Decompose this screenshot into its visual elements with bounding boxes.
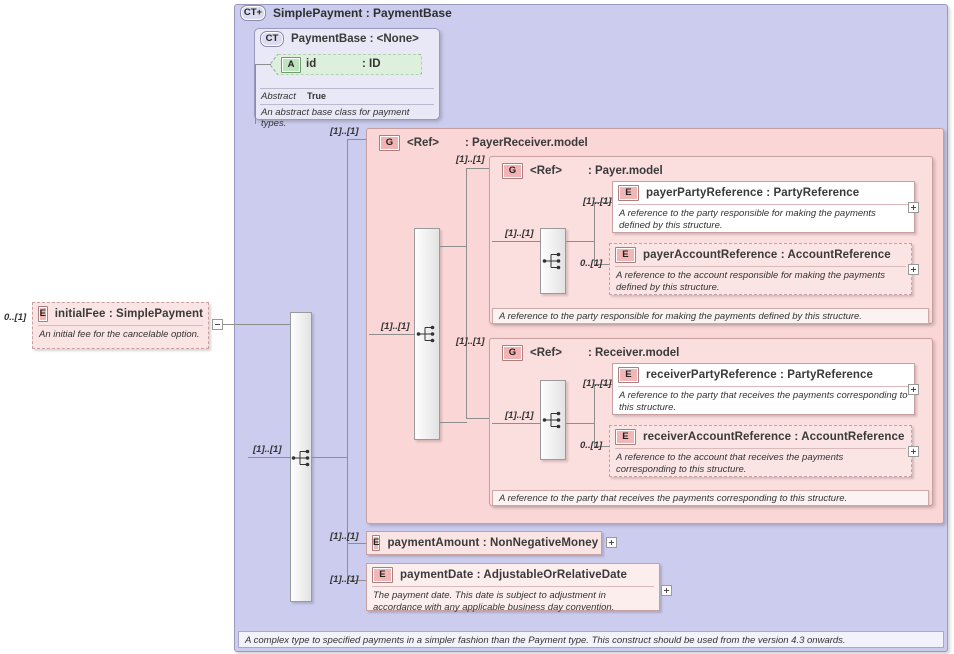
group-badge-icon: G — [502, 345, 523, 361]
payerreceiver-branch-out2 — [440, 422, 467, 423]
initialfee-cardinality: 0..[1] — [4, 312, 26, 323]
payer-ref-label: <Ref> — [530, 165, 562, 177]
payer-sequence-icon — [542, 251, 564, 271]
receiver-name-label: : Receiver.model — [588, 347, 679, 359]
receiveraccountreference-title: E receiverAccountReference : AccountRefe… — [610, 426, 911, 448]
payerpartyreference-cardinality: [1]..[1] — [583, 196, 612, 207]
receiver-group-title: G <Ref> : Receiver.model — [493, 340, 679, 361]
payerreceiver-seq-stub — [369, 334, 415, 335]
payer-children-trunk — [594, 202, 595, 264]
attribute-type: : ID — [362, 58, 381, 70]
element-badge-icon: E — [38, 306, 48, 322]
initialfee-node[interactable]: E initialFee : SimplePayment An initial … — [32, 302, 209, 349]
paymentdate-doc: The payment date. This date is subject t… — [372, 586, 654, 617]
payerreceiver-inner-cardinality: [1]..[1] — [381, 321, 410, 332]
attribute-row-id[interactable]: A id : ID — [270, 54, 422, 75]
root-title-label: SimplePayment : PaymentBase — [273, 6, 452, 20]
payerreceiver-group-title: G <Ref> : PayerReceiver.model — [370, 130, 588, 151]
root-branch-out — [312, 457, 348, 458]
receiverpartyreference-expand-toggle[interactable] — [908, 384, 919, 395]
attr-connector-h — [255, 64, 271, 65]
receiver-ref-label: <Ref> — [530, 347, 562, 359]
payer-group-title: G <Ref> : Payer.model — [493, 158, 663, 179]
ct-plus-icon[interactable]: CT+ — [240, 5, 266, 21]
payerpartyreference-node[interactable]: E payerPartyReference : PartyReference A… — [612, 181, 915, 233]
payer-cardinality: [1]..[1] — [456, 154, 485, 165]
group-badge-icon: G — [502, 163, 523, 179]
receiver-seq-stub — [492, 423, 541, 424]
paymentdate-title: E paymentDate : AdjustableOrRelativeDate — [367, 564, 659, 586]
element-badge-icon: E — [615, 429, 636, 445]
initialfee-doc: An initial fee for the cancelable option… — [38, 325, 203, 344]
payerpartyreference-expand-toggle[interactable] — [908, 202, 919, 213]
root-branch-trunk — [347, 139, 348, 580]
payerreceiver-ref-label: <Ref> — [407, 137, 439, 149]
payerpartyreference-title: E payerPartyReference : PartyReference — [613, 182, 914, 204]
payerreceiver-name-label: : PayerReceiver.model — [465, 137, 588, 149]
facet-key: Abstract — [261, 91, 307, 102]
facet-value: True — [307, 91, 326, 102]
payerreceiver-branch-to-payer — [466, 168, 490, 169]
element-badge-icon: E — [615, 247, 636, 263]
payerreceiver-sequence-icon — [416, 324, 438, 344]
payer-name-label: : Payer.model — [588, 165, 663, 177]
group-badge-icon: G — [379, 135, 400, 151]
payer-seq-stub — [492, 241, 541, 242]
facet-row-abstract: Abstract True — [260, 89, 434, 104]
receiveraccountreference-node[interactable]: E receiverAccountReference : AccountRefe… — [609, 425, 912, 477]
receiver-group-doc: A reference to the party that receives t… — [492, 490, 929, 506]
element-badge-icon: E — [372, 535, 380, 551]
receiveraccountreference-doc: A reference to the account that receives… — [615, 448, 906, 479]
receiver-sequence-icon — [542, 410, 564, 430]
paymentamount-expand-toggle[interactable] — [606, 537, 617, 548]
receiveraccountreference-expand-toggle[interactable] — [908, 446, 919, 457]
receiveraccountreference-cardinality: 0..[1] — [580, 440, 602, 451]
payeraccountreference-doc: A reference to the account responsible f… — [615, 266, 906, 297]
root-title: CT+ SimplePayment : PaymentBase — [240, 5, 452, 21]
root-seq-stub — [248, 457, 291, 458]
receiverpartyreference-title: E receiverPartyReference : PartyReferenc… — [613, 364, 914, 386]
receiver-inner-cardinality: [1]..[1] — [505, 410, 534, 421]
receiver-cardinality: [1]..[1] — [456, 336, 485, 347]
payer-inner-cardinality: [1]..[1] — [505, 228, 534, 239]
receiverpartyreference-node[interactable]: E receiverPartyReference : PartyReferenc… — [612, 363, 915, 415]
base-type-header: CT PaymentBase : <None> — [260, 31, 419, 47]
base-type-title: PaymentBase : <None> — [291, 33, 419, 45]
payerreceiver-branch-to-receiver — [466, 418, 490, 419]
payerreceiver-branch-trunk — [466, 168, 467, 418]
root-sequence-icon — [291, 448, 313, 468]
root-footer-doc: A complex type to specified payments in … — [238, 631, 944, 648]
paymentdate-cardinality: [1]..[1] — [330, 574, 359, 585]
initialfee-title: E initialFee : SimplePayment — [33, 303, 208, 325]
base-type-facets: Abstract True An abstract base class for… — [260, 88, 434, 131]
element-badge-icon: E — [618, 367, 639, 383]
payeraccountreference-title: E payerAccountReference : AccountReferen… — [610, 244, 911, 266]
element-badge-icon: E — [372, 567, 393, 583]
paymentdate-label: paymentDate : AdjustableOrRelativeDate — [400, 569, 627, 581]
receiverpartyreference-doc: A reference to the party that receives t… — [618, 386, 909, 417]
paymentamount-node[interactable]: E paymentAmount : NonNegativeMoney — [366, 531, 602, 555]
receiverpartyreference-label: receiverPartyReference : PartyReference — [646, 369, 873, 381]
payeraccountreference-node[interactable]: E payerAccountReference : AccountReferen… — [609, 243, 912, 295]
initialfee-collapse-toggle[interactable] — [212, 319, 223, 330]
payer-trunk-in — [566, 241, 595, 242]
payerpartyreference-label: payerPartyReference : PartyReference — [646, 187, 859, 199]
payer-group-doc: A reference to the party responsible for… — [492, 308, 929, 324]
attr-connector-v — [255, 64, 256, 124]
root-sequence-cardinality: [1]..[1] — [253, 444, 282, 455]
paymentamount-title: E paymentAmount : NonNegativeMoney — [367, 532, 601, 554]
attribute-badge-icon: A — [281, 57, 301, 73]
receiver-children-trunk — [594, 384, 595, 446]
initialfee-to-root-line — [223, 324, 291, 325]
payeraccountreference-expand-toggle[interactable] — [908, 264, 919, 275]
payerreceiver-cardinality: [1]..[1] — [330, 126, 359, 137]
attribute-name: id — [306, 58, 316, 70]
paymentdate-expand-toggle[interactable] — [661, 585, 672, 596]
paymentamount-cardinality: [1]..[1] — [330, 531, 359, 542]
receiveraccountreference-label: receiverAccountReference : AccountRefere… — [643, 431, 904, 443]
payerpartyreference-doc: A reference to the party responsible for… — [618, 204, 909, 235]
receiverpartyreference-cardinality: [1]..[1] — [583, 378, 612, 389]
paymentdate-node[interactable]: E paymentDate : AdjustableOrRelativeDate… — [366, 563, 660, 611]
receiver-trunk-in — [566, 423, 595, 424]
paymentamount-label: paymentAmount : NonNegativeMoney — [387, 537, 598, 549]
payeraccountreference-cardinality: 0..[1] — [580, 258, 602, 269]
payeraccountreference-label: payerAccountReference : AccountReference — [643, 249, 891, 261]
initialfee-label: initialFee : SimplePayment — [55, 308, 203, 320]
ct-icon: CT — [260, 31, 284, 47]
payerreceiver-branch-out — [440, 246, 467, 247]
element-badge-icon: E — [618, 185, 639, 201]
